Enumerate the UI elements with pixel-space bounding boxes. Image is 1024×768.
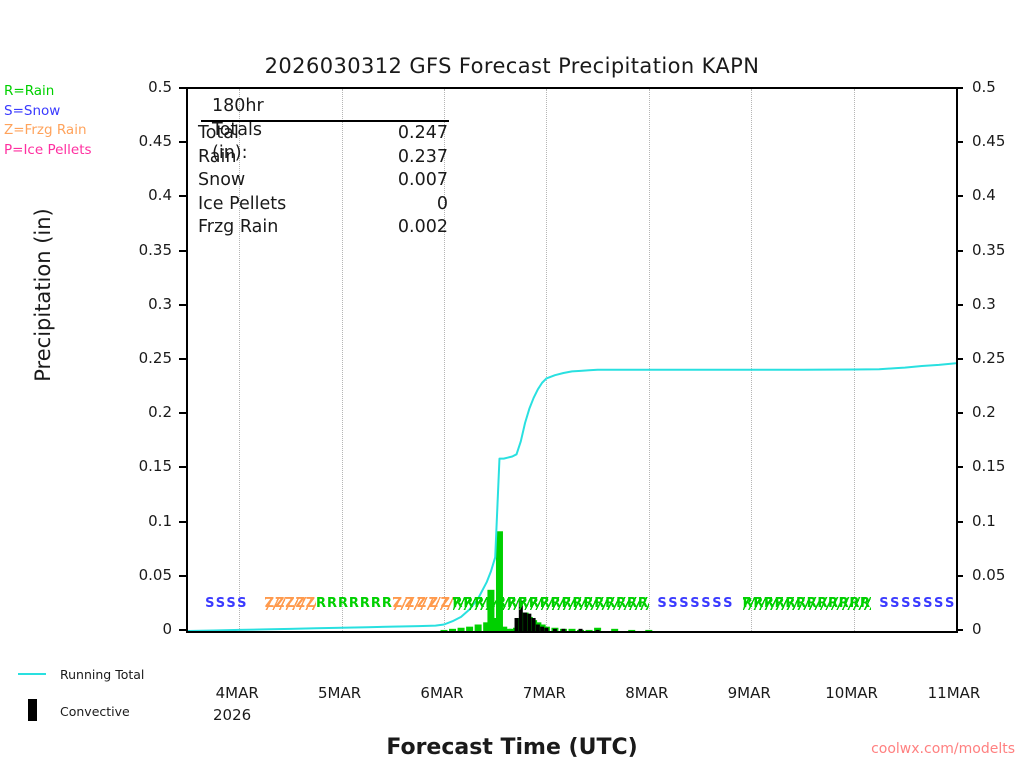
key-snow: S=Snow bbox=[4, 102, 92, 122]
y-tick-mark-left bbox=[179, 195, 186, 197]
y-tick-mark-left bbox=[179, 412, 186, 414]
chart-bar bbox=[586, 630, 593, 631]
y-tick-mark-left bbox=[179, 87, 186, 89]
precip-type-letter: S bbox=[945, 597, 954, 610]
precip-type-letter: S bbox=[901, 597, 910, 610]
totals-row-value: 0.007 bbox=[360, 169, 448, 193]
precip-type-letter: Z bbox=[265, 597, 274, 610]
y-tick-mark-right bbox=[956, 466, 963, 468]
precip-type-letter: R bbox=[764, 597, 774, 610]
precip-type-letter: R bbox=[583, 597, 593, 610]
precip-type-letter: R bbox=[817, 597, 827, 610]
y-axis-title: Precipitation (in) bbox=[31, 130, 55, 460]
precip-type-letter: R bbox=[839, 597, 849, 610]
y-tick-mark-right bbox=[956, 521, 963, 523]
precip-type-letter: R bbox=[743, 597, 753, 610]
precip-type-letter: R bbox=[327, 597, 337, 610]
totals-row-value: 0.237 bbox=[360, 146, 448, 170]
precip-type-letter: R bbox=[572, 597, 582, 610]
precip-type-letter: S bbox=[679, 597, 688, 610]
y-tick-label-left: 0.25 bbox=[112, 349, 172, 367]
precip-type-letter: R bbox=[605, 597, 615, 610]
precip-type-letter: S bbox=[890, 597, 899, 610]
y-tick-mark-right bbox=[956, 141, 963, 143]
y-tick-mark-left bbox=[179, 521, 186, 523]
precip-type-letter: S bbox=[690, 597, 699, 610]
chart-bar bbox=[579, 629, 583, 631]
precip-type-letter: R bbox=[775, 597, 785, 610]
precip-type-letter: R bbox=[849, 597, 859, 610]
precip-type-letter: R bbox=[807, 597, 817, 610]
y-tick-mark-right bbox=[956, 195, 963, 197]
y-tick-mark-right bbox=[956, 629, 963, 631]
y-tick-label-left: 0.15 bbox=[112, 457, 172, 475]
chart-bar bbox=[569, 629, 576, 631]
chart-bar bbox=[540, 627, 544, 631]
running-total-line bbox=[188, 363, 956, 631]
precip-type-letter: Z bbox=[393, 597, 402, 610]
precip-type-letter: Z bbox=[306, 597, 315, 610]
precip-type-letter: R bbox=[463, 597, 473, 610]
chart-bar bbox=[523, 613, 527, 631]
y-tick-label-left: 0.2 bbox=[112, 403, 172, 421]
y-tick-label-left: 0.4 bbox=[112, 186, 172, 204]
chart-data-canvas bbox=[188, 89, 956, 631]
y-tick-label-right: 0.2 bbox=[972, 403, 1024, 421]
precip-type-letter: R bbox=[474, 597, 484, 610]
precip-type-letter: Z bbox=[429, 597, 438, 610]
totals-row-value: 0 bbox=[360, 193, 448, 217]
precip-type-letter: S bbox=[879, 597, 888, 610]
precip-type-letter: S bbox=[712, 597, 721, 610]
y-tick-label-left: 0.35 bbox=[112, 241, 172, 259]
x-axis-year-label: 2026 bbox=[213, 706, 251, 724]
rain-bars bbox=[441, 531, 653, 631]
chart-bar bbox=[449, 629, 456, 631]
precip-type-letter: R bbox=[507, 597, 517, 610]
precip-type-letter: Z bbox=[417, 597, 426, 610]
chart-bar bbox=[475, 625, 482, 632]
precip-type-letter: R bbox=[349, 597, 359, 610]
precip-type-letter: Z bbox=[296, 597, 305, 610]
chart-bar bbox=[561, 629, 565, 631]
legend-label-convective: Convective bbox=[60, 704, 130, 719]
totals-row-label: Total bbox=[198, 122, 239, 146]
precip-type-letter: S bbox=[657, 597, 666, 610]
y-tick-label-right: 0.5 bbox=[972, 78, 1024, 96]
y-tick-mark-left bbox=[179, 141, 186, 143]
y-tick-mark-left bbox=[179, 466, 186, 468]
precip-type-letter: R bbox=[316, 597, 326, 610]
y-tick-mark-left bbox=[179, 575, 186, 577]
chart-bar bbox=[553, 629, 557, 631]
precip-type-letter: Z bbox=[441, 597, 450, 610]
precip-type-letter: S bbox=[226, 597, 235, 610]
precip-type-row: SSSSZZZZZRRRRRRRZZZZZRRRRRRRRRRRRRRRRRRS… bbox=[188, 595, 956, 615]
plot-inner: SSSSZZZZZRRRRRRRZZZZZRRRRRRRRRRRRRRRRRRS… bbox=[188, 89, 956, 631]
running-total-line-swatch bbox=[18, 673, 46, 675]
precip-type-letter: R bbox=[371, 597, 381, 610]
precip-type-letter: R bbox=[638, 597, 648, 610]
precip-type-letter: R bbox=[753, 597, 763, 610]
y-tick-label-right: 0.15 bbox=[972, 457, 1024, 475]
chart-bar bbox=[441, 630, 448, 631]
precip-type-letter: Z bbox=[275, 597, 284, 610]
y-tick-mark-left bbox=[179, 250, 186, 252]
precip-type-letter: R bbox=[518, 597, 528, 610]
precip-type-letter: Z bbox=[285, 597, 294, 610]
totals-row-value: 0.002 bbox=[360, 216, 448, 240]
chart-bar bbox=[596, 630, 600, 631]
chart-bar bbox=[628, 630, 635, 631]
precip-type-letter: R bbox=[540, 597, 550, 610]
chart-bar bbox=[532, 618, 536, 631]
precip-type-letter: S bbox=[934, 597, 943, 610]
y-tick-mark-right bbox=[956, 358, 963, 360]
chart-bar bbox=[527, 614, 531, 631]
precip-type-letter: S bbox=[216, 597, 225, 610]
precip-type-letter: R bbox=[594, 597, 604, 610]
precip-type-letter: R bbox=[496, 597, 506, 610]
precip-type-letter: R bbox=[860, 597, 870, 610]
legend-label-running-total: Running Total bbox=[60, 667, 144, 682]
y-tick-mark-right bbox=[956, 575, 963, 577]
precip-type-letter: R bbox=[785, 597, 795, 610]
precip-type-letter: S bbox=[205, 597, 214, 610]
chart-plot-area: SSSSZZZZZRRRRRRRZZZZZRRRRRRRRRRRRRRRRRRS… bbox=[186, 87, 958, 633]
key-rain: R=Rain bbox=[4, 82, 92, 102]
precip-type-letter: R bbox=[360, 597, 370, 610]
y-tick-label-left: 0.5 bbox=[112, 78, 172, 96]
chart-bar bbox=[496, 531, 503, 631]
precip-type-letter: R bbox=[616, 597, 626, 610]
precip-type-letter: R bbox=[828, 597, 838, 610]
precip-type-letter: S bbox=[237, 597, 246, 610]
precip-type-letter: R bbox=[453, 597, 463, 610]
precip-type-letter: R bbox=[627, 597, 637, 610]
y-tick-mark-right bbox=[956, 304, 963, 306]
precip-type-letter: S bbox=[923, 597, 932, 610]
precip-type-letter: S bbox=[668, 597, 677, 610]
precip-type-letter: R bbox=[551, 597, 561, 610]
y-tick-label-right: 0.25 bbox=[972, 349, 1024, 367]
precip-type-letter: S bbox=[701, 597, 710, 610]
chart-bar bbox=[544, 628, 548, 631]
y-tick-mark-right bbox=[956, 412, 963, 414]
watermark: coolwx.com/modelts bbox=[0, 741, 1015, 757]
totals-row-label: Frzg Rain bbox=[198, 216, 278, 240]
y-tick-mark-left bbox=[179, 358, 186, 360]
precip-type-letter: R bbox=[529, 597, 539, 610]
y-tick-label-right: 0.05 bbox=[972, 566, 1024, 584]
chart-bar bbox=[515, 618, 519, 631]
y-tick-label-right: 0.35 bbox=[972, 241, 1024, 259]
y-tick-label-left: 0.1 bbox=[112, 512, 172, 530]
chart-bar bbox=[536, 625, 540, 632]
convective-bar-swatch bbox=[28, 699, 37, 721]
y-tick-label-right: 0 bbox=[972, 620, 1024, 638]
precip-type-letter: S bbox=[912, 597, 921, 610]
y-tick-mark-right bbox=[956, 250, 963, 252]
y-tick-label-left: 0.3 bbox=[112, 295, 172, 313]
precip-type-letter: R bbox=[338, 597, 348, 610]
y-tick-mark-left bbox=[179, 629, 186, 631]
precip-type-letter: S bbox=[723, 597, 732, 610]
precip-type-letter: Z bbox=[405, 597, 414, 610]
y-tick-mark-right bbox=[956, 87, 963, 89]
chart-bar bbox=[466, 627, 473, 631]
y-tick-label-left: 0.45 bbox=[112, 132, 172, 150]
y-tick-label-right: 0.4 bbox=[972, 186, 1024, 204]
y-tick-label-left: 0 bbox=[112, 620, 172, 638]
y-tick-mark-left bbox=[179, 304, 186, 306]
precip-type-letter: R bbox=[382, 597, 392, 610]
totals-row-label: Rain bbox=[198, 146, 236, 170]
precip-type-letter: R bbox=[485, 597, 495, 610]
chart-bar bbox=[458, 628, 465, 631]
y-tick-label-left: 0.05 bbox=[112, 566, 172, 584]
totals-row-label: Snow bbox=[198, 169, 245, 193]
precip-type-letter: R bbox=[562, 597, 572, 610]
x-tick-label: 11MAR bbox=[894, 684, 1014, 702]
y-tick-label-right: 0.1 bbox=[972, 512, 1024, 530]
page-title: 2026030312 GFS Forecast Precipitation KA… bbox=[0, 54, 1024, 78]
y-tick-label-right: 0.45 bbox=[972, 132, 1024, 150]
chart-bar bbox=[645, 630, 652, 631]
totals-row-label: Ice Pellets bbox=[198, 193, 286, 217]
precip-type-letter: R bbox=[796, 597, 806, 610]
y-tick-label-right: 0.3 bbox=[972, 295, 1024, 313]
chart-bar bbox=[611, 629, 618, 631]
totals-row-value: 0.247 bbox=[360, 122, 448, 146]
